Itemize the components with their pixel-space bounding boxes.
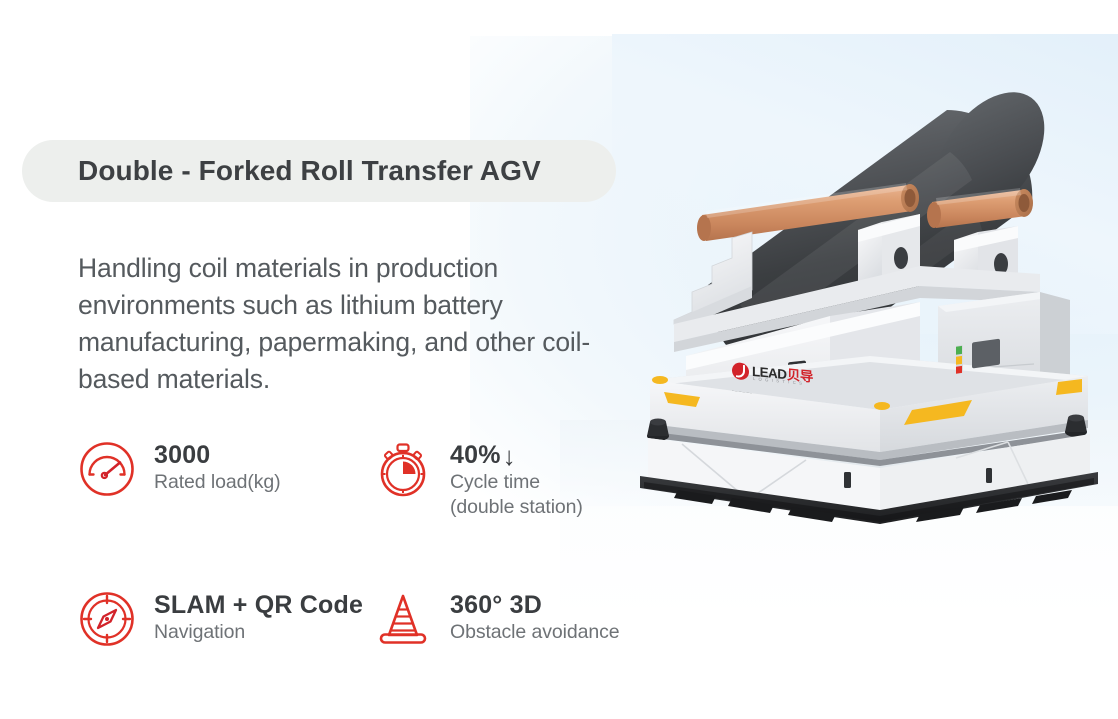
spec-row-2: SLAM + QR Code Navigation — [78, 588, 658, 648]
stopwatch-icon — [374, 440, 432, 498]
page-title: Double - Forked Roll Transfer AGV — [78, 155, 541, 187]
spec-value: 40% ↓ — [450, 441, 583, 470]
spec-value-number: 40% — [450, 441, 501, 470]
spec-value: 360° 3D — [450, 591, 619, 620]
spec-value: 3000 — [154, 441, 281, 470]
gauge-icon — [78, 440, 136, 498]
spec-value: SLAM + QR Code — [154, 591, 363, 620]
product-image-agv: LEAD 贝导 L O G I S T I C S — [620, 80, 1118, 550]
spec-value-number: SLAM + QR Code — [154, 591, 363, 620]
compass-icon — [78, 590, 136, 648]
spec-label-line-1: Navigation — [154, 620, 363, 645]
spec-label-line-2: (double station) — [450, 495, 583, 520]
spec-item-rated-load: 3000 Rated load(kg) — [78, 438, 374, 498]
traffic-cone-icon — [374, 590, 432, 648]
lead-logo-mark-icon — [732, 361, 749, 380]
spec-text-cycle-time: 40% ↓ Cycle time (double station) — [450, 438, 583, 520]
spec-value-number: 360° 3D — [450, 591, 542, 620]
spec-item-obstacle-avoidance: 360° 3D Obstacle avoidance — [374, 588, 654, 648]
spec-item-cycle-time: 40% ↓ Cycle time (double station) — [374, 438, 654, 520]
arrow-down-icon: ↓ — [503, 443, 516, 469]
spec-value-number: 3000 — [154, 441, 210, 470]
spec-item-navigation: SLAM + QR Code Navigation — [78, 588, 374, 648]
product-description: Handling coil materials in production en… — [78, 250, 648, 398]
spec-grid: 3000 Rated load(kg) — [78, 438, 658, 648]
spec-label-line-1: Obstacle avoidance — [450, 620, 619, 645]
spec-text-rated-load: 3000 Rated load(kg) — [154, 438, 281, 495]
spec-text-navigation: SLAM + QR Code Navigation — [154, 588, 363, 645]
spec-text-obstacle-avoidance: 360° 3D Obstacle avoidance — [450, 588, 619, 645]
page-title-pill: Double - Forked Roll Transfer AGV — [22, 140, 616, 202]
spec-label-line-1: Cycle time — [450, 470, 583, 495]
spec-label-line-1: Rated load(kg) — [154, 470, 281, 495]
spec-row-1: 3000 Rated load(kg) — [78, 438, 658, 520]
product-spec-slide: Double - Forked Roll Transfer AGV Handli… — [0, 0, 1118, 719]
